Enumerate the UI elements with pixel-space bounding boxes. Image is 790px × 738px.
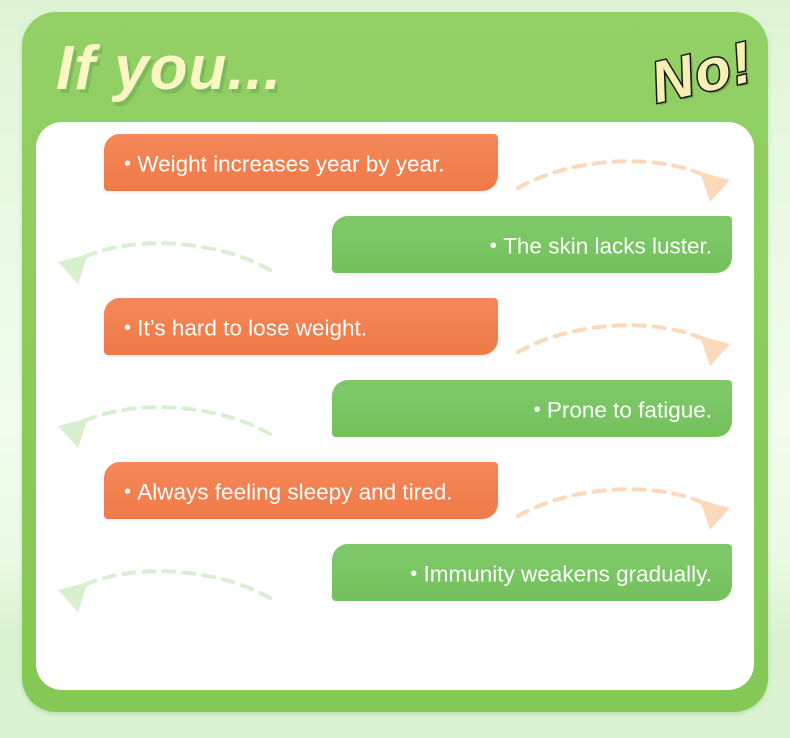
bullet-icon: • bbox=[534, 399, 541, 421]
page-title: If you... bbox=[56, 38, 282, 100]
list-item: • Weight increases year by year. bbox=[36, 134, 754, 216]
dashed-arrow-left-icon bbox=[44, 386, 274, 456]
bullet-icon: • bbox=[490, 235, 497, 257]
no-stamp-badge: No! bbox=[646, 33, 759, 113]
dashed-arrow-right-icon bbox=[514, 304, 744, 374]
poster-canvas: If you... No! • Weight increases year by… bbox=[0, 0, 790, 738]
symptom-label: The skin lacks luster. bbox=[503, 234, 712, 259]
symptom-bar-green[interactable]: • Immunity weakens gradually. bbox=[332, 544, 732, 601]
bullet-icon: • bbox=[124, 481, 131, 503]
bullet-icon: • bbox=[124, 317, 131, 339]
bullet-icon: • bbox=[410, 563, 417, 585]
content-panel: • Weight increases year by year. • The s… bbox=[36, 122, 754, 690]
symptom-bar-orange[interactable]: • Weight increases year by year. bbox=[104, 134, 498, 191]
dashed-arrow-left-icon bbox=[44, 550, 274, 620]
list-item: • It’s hard to lose weight. bbox=[36, 298, 754, 380]
dashed-arrow-right-icon bbox=[514, 140, 744, 210]
symptom-label: Weight increases year by year. bbox=[137, 152, 444, 177]
symptom-bar-orange[interactable]: • It’s hard to lose weight. bbox=[104, 298, 498, 355]
list-item: • Immunity weakens gradually. bbox=[36, 544, 754, 626]
symptom-label: Prone to fatigue. bbox=[547, 398, 712, 423]
bullet-icon: • bbox=[124, 153, 131, 175]
dashed-arrow-left-icon bbox=[44, 222, 274, 292]
list-item: • The skin lacks luster. bbox=[36, 216, 754, 298]
card-header: If you... No! bbox=[22, 12, 768, 130]
dashed-arrow-right-icon bbox=[514, 468, 744, 538]
symptom-label: Always feeling sleepy and tired. bbox=[137, 480, 452, 505]
green-card: If you... No! • Weight increases year by… bbox=[22, 12, 768, 712]
symptom-bar-green[interactable]: • The skin lacks luster. bbox=[332, 216, 732, 273]
list-item: • Always feeling sleepy and tired. bbox=[36, 462, 754, 544]
symptom-label: It’s hard to lose weight. bbox=[137, 316, 367, 341]
symptom-bar-green[interactable]: • Prone to fatigue. bbox=[332, 380, 732, 437]
symptom-bar-orange[interactable]: • Always feeling sleepy and tired. bbox=[104, 462, 498, 519]
list-item: • Prone to fatigue. bbox=[36, 380, 754, 462]
symptom-label: Immunity weakens gradually. bbox=[424, 562, 712, 587]
